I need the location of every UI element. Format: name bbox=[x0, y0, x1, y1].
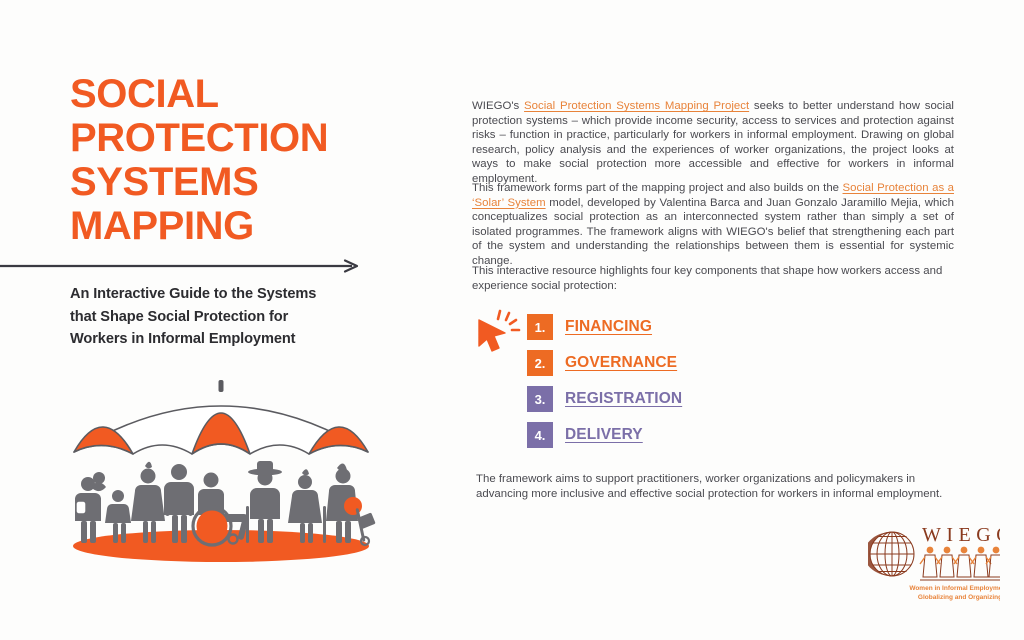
umbrella-icon bbox=[74, 380, 368, 454]
component-item-delivery[interactable]: 4. DELIVERY bbox=[527, 422, 827, 448]
component-item-governance[interactable]: 2. GOVERNANCE bbox=[527, 350, 827, 376]
page-subtitle: An Interactive Guide to the Systems that… bbox=[70, 283, 370, 351]
wiego-figure-2 bbox=[937, 547, 957, 577]
umbrella-and-people-illustration bbox=[62, 378, 380, 578]
subtitle-line-1: An Interactive Guide to the Systems bbox=[70, 283, 370, 306]
wiego-figure-3 bbox=[954, 547, 974, 577]
component-label[interactable]: DELIVERY bbox=[565, 426, 643, 444]
components-intro-paragraph: This interactive resource highlights fou… bbox=[472, 264, 954, 293]
subtitle-line-3: Workers in Informal Employment bbox=[70, 328, 370, 351]
component-label[interactable]: FINANCING bbox=[565, 318, 652, 336]
click-cursor-icon bbox=[474, 308, 526, 356]
arrow-divider-icon bbox=[0, 259, 363, 273]
component-list: 1. FINANCING 2. GOVERNANCE 3. REGISTRATI… bbox=[527, 314, 827, 458]
intro-paragraph: WIEGO's Social Protection Systems Mappin… bbox=[472, 99, 954, 187]
poster-page: SOCIAL PROTECTION SYSTEMS MAPPING An Int… bbox=[0, 0, 1024, 640]
framework-paragraph: This framework forms part of the mapping… bbox=[472, 181, 954, 269]
wiego-wordmark: WIEGO bbox=[922, 524, 1000, 546]
component-number: 3. bbox=[527, 386, 553, 412]
component-item-financing[interactable]: 1. FINANCING bbox=[527, 314, 827, 340]
wiego-figure-5 bbox=[986, 547, 1000, 577]
left-column: SOCIAL PROTECTION SYSTEMS MAPPING An Int… bbox=[0, 0, 440, 640]
title-line-3: SYSTEMS bbox=[70, 160, 410, 204]
wiego-logo: WIEGO bbox=[868, 518, 1000, 604]
figure-elder-woman bbox=[288, 469, 326, 543]
component-number: 2. bbox=[527, 350, 553, 376]
title-line-2: PROTECTION bbox=[70, 116, 410, 160]
mapping-project-link[interactable]: Social Protection Systems Mapping Projec… bbox=[524, 100, 749, 112]
logo-tagline-line-1: Women in Informal Employment: bbox=[909, 585, 1000, 592]
wiego-figures bbox=[920, 547, 1000, 577]
figure-woman bbox=[131, 462, 165, 543]
wiego-figure-1 bbox=[920, 547, 940, 577]
para1-before-link: WIEGO's bbox=[472, 100, 524, 112]
figure-wheelchair-user bbox=[193, 473, 249, 546]
logo-tagline-line-2: Globalizing and Organizing bbox=[918, 594, 1000, 601]
para2-before-link: This framework forms part of the mapping… bbox=[472, 182, 843, 194]
hand-trolley-icon bbox=[355, 508, 375, 545]
people-silhouettes bbox=[75, 461, 376, 545]
subtitle-line-2: that Shape Social Protection for bbox=[70, 306, 370, 329]
component-number: 1. bbox=[527, 314, 553, 340]
component-label[interactable]: REGISTRATION bbox=[565, 390, 682, 408]
title-line-1: SOCIAL bbox=[70, 72, 410, 116]
globe-icon bbox=[870, 532, 914, 576]
page-title: SOCIAL PROTECTION SYSTEMS MAPPING bbox=[70, 72, 410, 248]
component-label[interactable]: GOVERNANCE bbox=[565, 354, 677, 372]
figure-parent-with-baby bbox=[75, 472, 106, 543]
closing-paragraph: The framework aims to support practition… bbox=[476, 472, 946, 501]
title-line-4: MAPPING bbox=[70, 204, 410, 248]
component-item-registration[interactable]: 3. REGISTRATION bbox=[527, 386, 827, 412]
para1-after-link: seeks to better understand how social pr… bbox=[472, 100, 954, 185]
figure-pregnant-woman-with-cart bbox=[326, 463, 376, 545]
component-number: 4. bbox=[527, 422, 553, 448]
